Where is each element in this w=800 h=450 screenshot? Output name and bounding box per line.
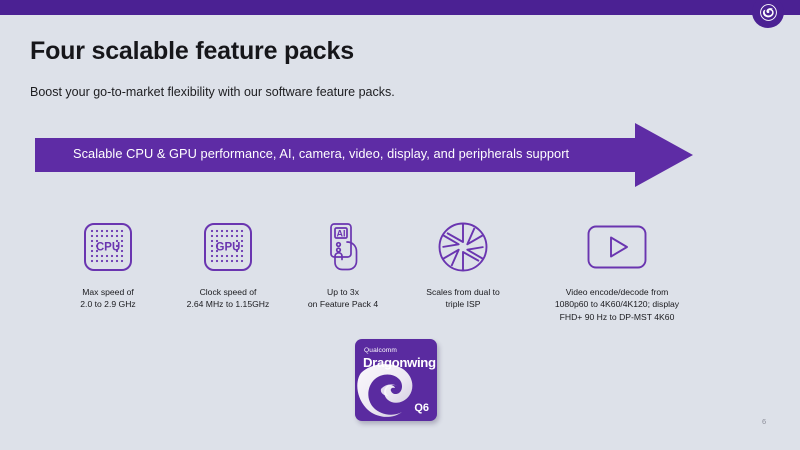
qualcomm-swirl-logo-icon	[752, 0, 784, 28]
header-bar	[0, 0, 800, 15]
feature-caption: Video encode/decode from 1080p60 to 4K60…	[527, 286, 707, 323]
chip-model-label: Q6	[414, 402, 429, 414]
feature-item-video: Video encode/decode from 1080p60 to 4K60…	[527, 218, 707, 323]
gpu-icon-label: GPU	[216, 242, 241, 254]
dragonwing-chip-graphic: Qualcomm Dragonwing Q6	[355, 339, 437, 421]
page-title: Four scalable feature packs	[30, 37, 354, 66]
camera-aperture-icon	[373, 218, 553, 276]
page-subtitle: Boost your go-to-market flexibility with…	[30, 85, 395, 99]
slide-canvas: Four scalable feature packs Boost your g…	[0, 0, 800, 450]
cpu-icon-label: CPU	[96, 242, 120, 254]
ai-icon-label: AI	[337, 229, 346, 239]
chip-name-label: Dragonwing	[363, 355, 436, 370]
page-number: 6	[762, 417, 766, 426]
video-play-icon	[527, 218, 707, 276]
banner-arrow: Scalable CPU & GPU performance, AI, came…	[35, 123, 693, 187]
feature-caption: Scales from dual to triple ISP	[373, 286, 553, 311]
feature-item-camera: Scales from dual to triple ISP	[373, 218, 553, 311]
banner-text: Scalable CPU & GPU performance, AI, came…	[73, 146, 653, 161]
chip-brand-label: Qualcomm	[364, 347, 397, 354]
